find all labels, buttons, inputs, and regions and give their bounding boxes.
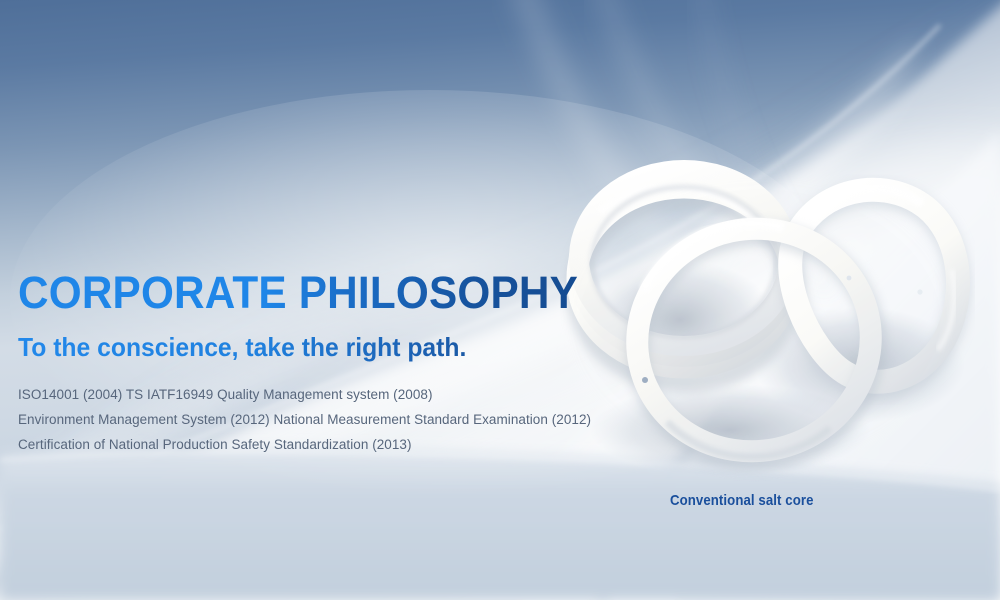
page-subtitle: To the conscience, take the right path. xyxy=(18,332,607,362)
certification-item: ISO14001 (2004) TS IATF16949 Quality Man… xyxy=(18,382,638,407)
certification-item: Environment Management System (2012) Nat… xyxy=(18,407,638,432)
headline-text-block: CORPORATE PHILOSOPHY To the conscience, … xyxy=(18,268,638,457)
corporate-philosophy-banner: CORPORATE PHILOSOPHY To the conscience, … xyxy=(0,0,1000,600)
page-title: CORPORATE PHILOSOPHY xyxy=(18,268,601,318)
certification-list: ISO14001 (2004) TS IATF16949 Quality Man… xyxy=(18,382,638,457)
certification-item: Certification of National Production Saf… xyxy=(18,432,638,457)
product-caption: Conventional salt core xyxy=(670,492,814,509)
